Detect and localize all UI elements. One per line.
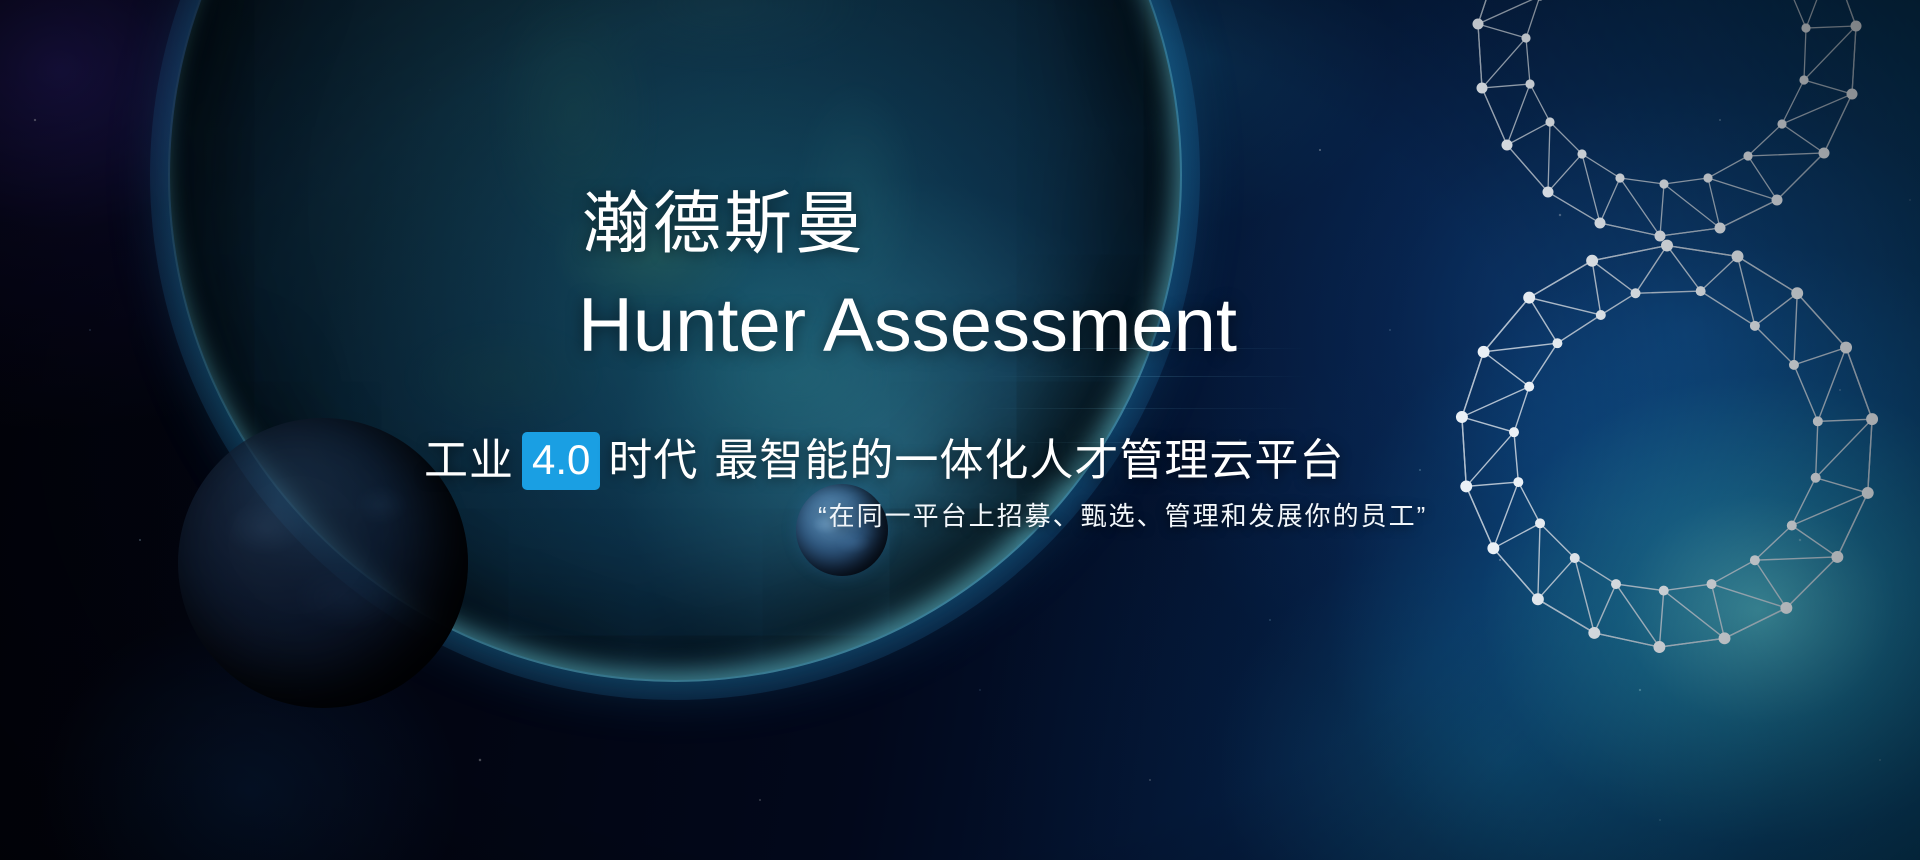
subtitle-quote: “在同一平台上招募、甄选、管理和发展你的员工” <box>818 503 1427 529</box>
tagline-suffix: 最智能的一体化人才管理云平台 <box>714 439 1344 483</box>
tagline-era: 时代 <box>608 439 698 483</box>
tagline: 工业 4.0 时代 最智能的一体化人才管理云平台 <box>424 432 1344 490</box>
hero-text-block: 瀚德斯曼 Hunter Assessment 工业 4.0 时代 最智能的一体化… <box>0 0 1920 860</box>
hero-banner: 瀚德斯曼 Hunter Assessment 工业 4.0 时代 最智能的一体化… <box>0 0 1920 860</box>
industry-version-badge: 4.0 <box>522 432 600 490</box>
page-title-chinese: 瀚德斯曼 <box>582 190 866 258</box>
page-title-english: Hunter Assessment <box>578 288 1237 364</box>
tagline-prefix: 工业 <box>424 439 514 483</box>
